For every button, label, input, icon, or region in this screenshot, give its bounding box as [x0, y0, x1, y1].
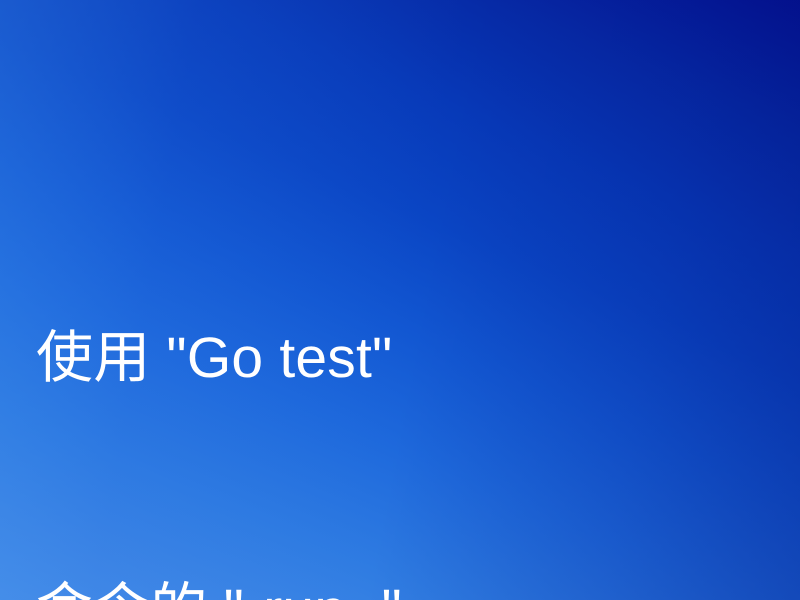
- slide-canvas: 使用 "Go test" 命令的 "-run -" 标志会大幅提升测试的执 行速…: [0, 0, 800, 600]
- slide-text-block: 使用 "Go test" 命令的 "-run -" 标志会大幅提升测试的执 行速…: [36, 148, 796, 600]
- slide-text-line-1: 使用 "Go test": [36, 316, 796, 400]
- slide-text-line-2: 命令的 "-run -": [36, 568, 796, 600]
